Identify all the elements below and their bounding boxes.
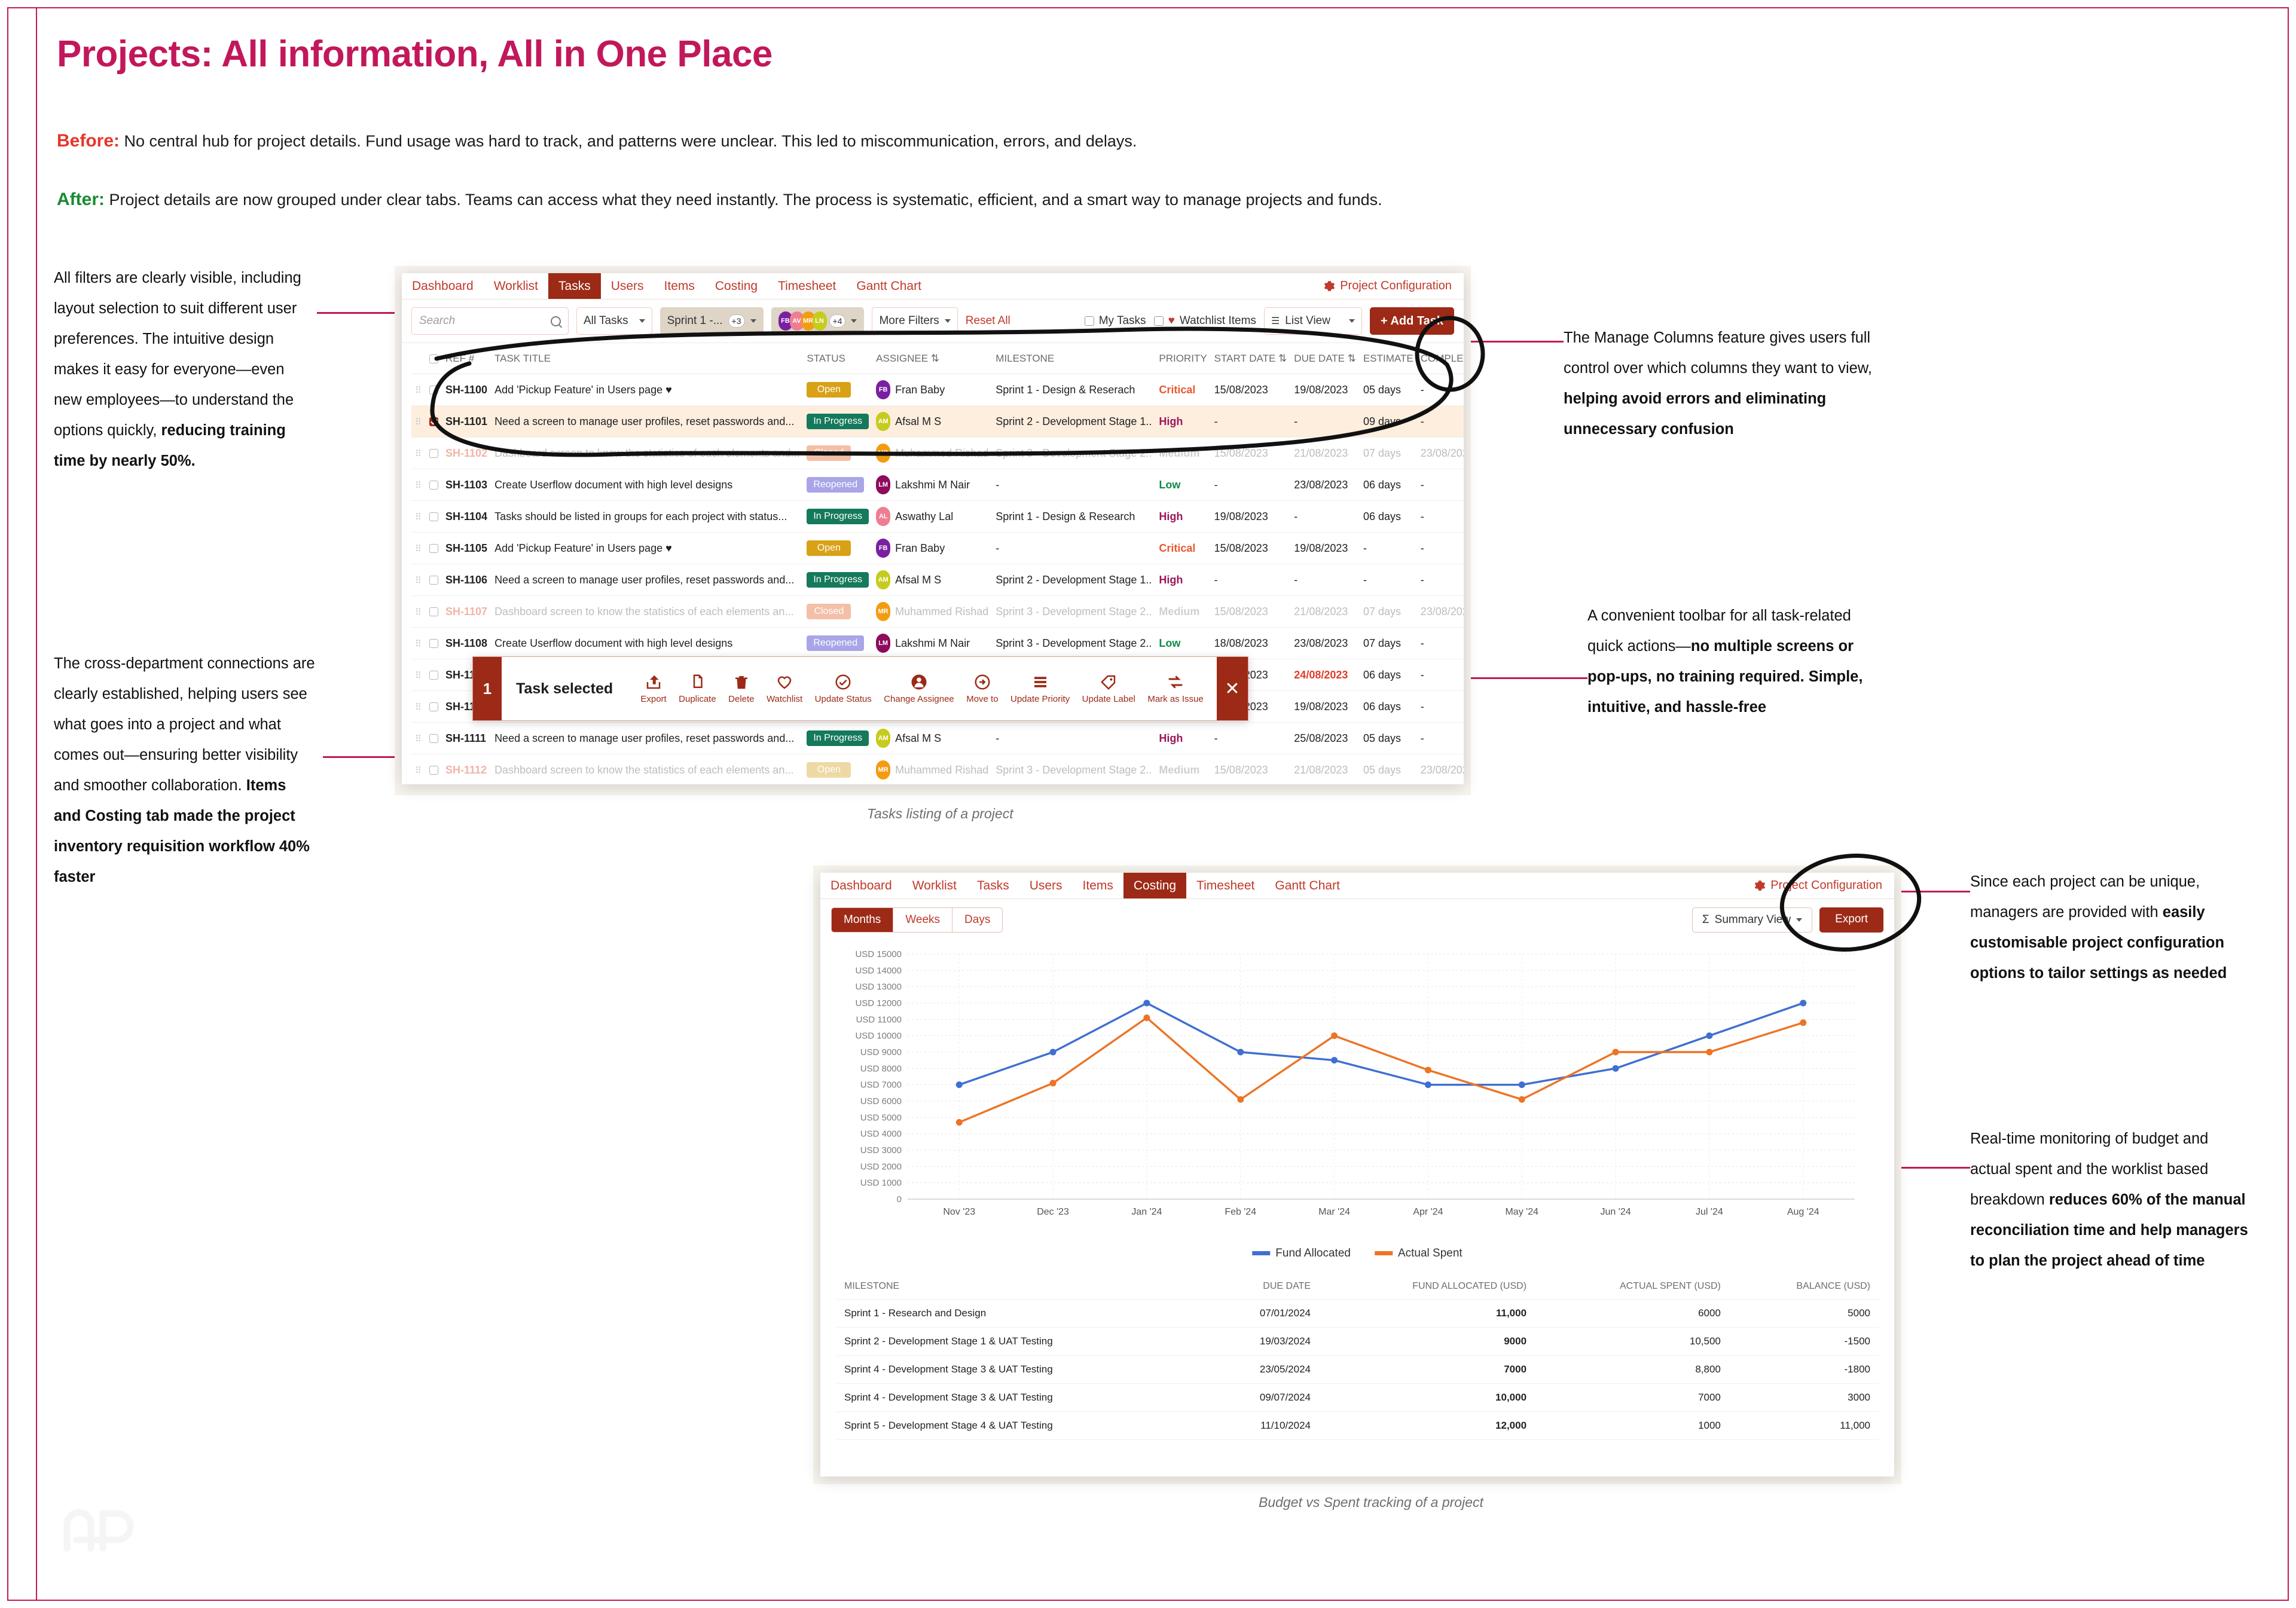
cell-ref[interactable]: SH-1102 (442, 438, 491, 469)
svg-text:USD 11000: USD 11000 (856, 1014, 902, 1025)
action-label: Change Assignee (884, 694, 954, 704)
legend-swatch (1375, 1251, 1393, 1255)
cell-start-date: 15/08/2023 (1211, 754, 1291, 785)
action-label: Update Status (815, 694, 872, 704)
cell-due-date: 23/08/2023 (1290, 628, 1360, 659)
cell-title: Tasks should be listed in groups for eac… (491, 501, 803, 533)
row-checkbox[interactable] (426, 691, 442, 723)
cell-priority: Low (1155, 628, 1210, 659)
duplicate-icon (688, 673, 706, 691)
after-text: Project details are now grouped under cl… (105, 191, 1382, 209)
checkbox-icon (429, 607, 438, 616)
cell-completed-date: - (1417, 533, 1464, 564)
watchlist-items-checkbox[interactable]: ♥ Watchlist Items (1154, 314, 1256, 328)
cell-start-date: - (1211, 406, 1291, 438)
status-badge: In Progress (807, 509, 869, 524)
cell-priority: High (1155, 723, 1210, 754)
cell-ref[interactable]: SH-1106 (442, 564, 491, 596)
close-icon[interactable]: ✕ (1217, 657, 1248, 720)
cell-start-date: - (1211, 723, 1291, 754)
export-icon (645, 673, 662, 691)
action-label: Watchlist (767, 694, 802, 704)
cell-due-date: 19/08/2023 (1290, 374, 1360, 406)
delete-icon (732, 673, 750, 691)
cell-completed-date: 23/08/2023 (1417, 754, 1464, 785)
after-paragraph: After: Project details are now grouped u… (57, 187, 1970, 212)
checkbox-icon (429, 354, 438, 363)
cell-assignee: AMAfsal M S (872, 723, 992, 754)
cell-assignee: FBFran Baby (872, 374, 992, 406)
table-row[interactable]: Sprint 2 - Development Stage 1 & UAT Tes… (836, 1328, 1879, 1356)
watchlist-icon (775, 673, 793, 691)
milestone-table-header-row: MILESTONEDUE DATEFUND ALLOCATED (USD)ACT… (836, 1274, 1879, 1300)
annotation-manage-columns: The Manage Columns feature gives users f… (1564, 323, 1880, 445)
avatar: LN (813, 311, 827, 331)
action-change-assignee-button[interactable]: Change Assignee (884, 673, 954, 704)
row-drag-handle[interactable]: ⠿ (411, 469, 426, 501)
sigma-icon: Σ (1702, 913, 1709, 927)
table-row[interactable]: ⠿SH-1101Need a screen to manage user pro… (411, 406, 1464, 438)
svg-text:USD 9000: USD 9000 (860, 1047, 902, 1057)
nav-tab-timesheet[interactable]: Timesheet (1186, 873, 1265, 898)
action-mark-as-issue-button[interactable]: Mark as Issue (1147, 673, 1203, 704)
nav-tab-users[interactable]: Users (1019, 873, 1073, 898)
cell-milestone: Sprint 3 - Development Stage 2.. (992, 596, 1155, 628)
selection-label: Task selected (502, 657, 627, 720)
cell-fund-allocated: 10,000 (1319, 1384, 1535, 1412)
avatar: AM (876, 570, 890, 589)
nav-tab-costing[interactable]: Costing (1123, 873, 1186, 898)
change-assignee-icon (910, 673, 928, 691)
status-badge: Reopened (807, 477, 864, 493)
annotation-cross-plain: The cross-department connections are cle… (54, 655, 315, 794)
cell-milestone: Sprint 4 - Development Stage 3 & UAT Tes… (836, 1384, 1207, 1412)
row-checkbox[interactable] (426, 564, 442, 596)
status-badge: In Progress (807, 572, 869, 588)
table-row[interactable]: ⠿SH-1102Dashboard screen to know the sta… (411, 438, 1464, 469)
sprint-select-label: Sprint 1 -... (667, 314, 723, 328)
chevron-down-icon (639, 319, 645, 323)
row-drag-handle[interactable]: ⠿ (411, 754, 426, 785)
milestone-column-actual-spent-usd: ACTUAL SPENT (USD) (1535, 1274, 1729, 1300)
project-configuration-label: Project Configuration (1340, 279, 1452, 293)
cell-ref[interactable]: SH-1111 (442, 723, 491, 754)
cell-status: Open (803, 533, 872, 564)
svg-text:Feb '24: Feb '24 (1225, 1207, 1256, 1217)
column-header-due-date[interactable]: DUE DATE ⇅ (1290, 343, 1360, 374)
tasks-table-header-row: REF #TASK TITLESTATUSASSIGNEE ⇅MILESTONE… (411, 343, 1464, 374)
cell-due-date: 23/08/2023 (1290, 469, 1360, 501)
cell-start-date: - (1211, 469, 1291, 501)
row-drag-handle[interactable]: ⠿ (411, 406, 426, 438)
all-tasks-select-label: All Tasks (584, 314, 628, 328)
table-row[interactable]: Sprint 4 - Development Stage 3 & UAT Tes… (836, 1384, 1879, 1412)
cell-balance: -1800 (1729, 1356, 1879, 1384)
all-tasks-select[interactable]: All Tasks (576, 307, 652, 335)
cell-completed-date: - (1417, 691, 1464, 723)
cell-due-date: 09/07/2024 (1207, 1384, 1319, 1412)
annotation-filters-plain: All filters are clearly visible, includi… (54, 270, 301, 439)
svg-text:USD 14000: USD 14000 (855, 965, 902, 976)
svg-text:Apr '24: Apr '24 (1413, 1207, 1443, 1217)
cell-priority: Medium (1155, 438, 1210, 469)
cell-start-date: 18/08/2023 (1211, 628, 1291, 659)
table-row[interactable]: ⠿SH-1108Create Userflow document with hi… (411, 628, 1464, 659)
row-drag-handle[interactable]: ⠿ (411, 533, 426, 564)
cell-ref[interactable]: SH-1108 (442, 628, 491, 659)
row-checkbox[interactable] (426, 754, 442, 785)
column-header-estimate[interactable]: ESTIMATE (1360, 343, 1417, 374)
before-text: No central hub for project details. Fund… (120, 132, 1137, 150)
milestone-column-due-date: DUE DATE (1207, 1274, 1319, 1300)
cell-ref[interactable]: SH-1105 (442, 533, 491, 564)
annotation-filters: All filters are clearly visible, includi… (54, 263, 311, 476)
sprint-more-badge: +3 (728, 314, 745, 328)
cell-milestone: Sprint 1 - Research and Design (836, 1300, 1207, 1328)
cell-actual-spent: 8,800 (1535, 1356, 1729, 1384)
nav-tab-dashboard[interactable]: Dashboard (402, 273, 484, 299)
column-header-assignee[interactable]: ASSIGNEE ⇅ (872, 343, 992, 374)
nav-tab-items[interactable]: Items (1073, 873, 1123, 898)
row-checkbox[interactable] (426, 406, 442, 438)
svg-text:Jun '24: Jun '24 (1601, 1207, 1631, 1217)
add-task-button[interactable]: + Add Task (1370, 307, 1454, 335)
nav-tab-dashboard[interactable]: Dashboard (820, 873, 902, 898)
action-duplicate-button[interactable]: Duplicate (679, 673, 716, 704)
leader-line-columns (1465, 341, 1564, 343)
cell-due-date: 19/03/2024 (1207, 1328, 1319, 1356)
cell-due-date: 23/05/2024 (1207, 1356, 1319, 1384)
cell-completed-date: - (1417, 501, 1464, 533)
nav-tab-tasks[interactable]: Tasks (548, 273, 601, 299)
cell-due-date: - (1290, 406, 1360, 438)
column-header-completed-date[interactable]: COMPLETED DATE ⇅ (1417, 343, 1464, 374)
chart-svg: 0USD 1000USD 2000USD 3000USD 4000USD 500… (836, 948, 1879, 1223)
avatar: MR (876, 444, 890, 463)
cell-estimate: 07 days (1360, 438, 1417, 469)
project-configuration-label: Project Configuration (1770, 879, 1882, 892)
cell-milestone: Sprint 3 - Development Stage 2.. (992, 438, 1155, 469)
status-badge: Open (807, 762, 851, 778)
cell-status: Closed (803, 438, 872, 469)
nav-tab-costing[interactable]: Costing (705, 273, 768, 299)
action-label: Update Priority (1010, 694, 1070, 704)
action-label: Duplicate (679, 694, 716, 704)
cell-due-date: 19/08/2023 (1290, 691, 1360, 723)
page-title: Projects: All information, All in One Pl… (57, 33, 1253, 75)
cell-due-date: 07/01/2024 (1207, 1300, 1319, 1328)
cell-milestone: Sprint 3 - Development Stage 2.. (992, 754, 1155, 785)
leader-line-filters (317, 312, 395, 314)
selection-toolbar: 1 Task selected ExportDuplicateDeleteWat… (472, 656, 1248, 721)
reset-all-button[interactable]: Reset All (966, 314, 1010, 328)
cell-priority: Medium (1155, 754, 1210, 785)
cell-ref[interactable]: SH-1104 (442, 501, 491, 533)
cell-estimate: 07 days (1360, 596, 1417, 628)
svg-text:USD 8000: USD 8000 (860, 1063, 902, 1074)
cell-actual-spent: 6000 (1535, 1300, 1729, 1328)
selection-count: 1 (473, 657, 502, 720)
row-drag-handle[interactable]: ⠿ (411, 691, 426, 723)
action-label: Mark as Issue (1147, 694, 1203, 704)
cell-title: Add 'Pickup Feature' in Users page ♥ (491, 374, 803, 406)
row-checkbox[interactable] (426, 723, 442, 754)
cell-completed-date: 23/08/2023 (1417, 596, 1464, 628)
row-drag-handle[interactable]: ⠿ (411, 659, 426, 691)
cell-completed-date: - (1417, 469, 1464, 501)
summary-view-label: Summary View (1715, 913, 1791, 927)
table-row[interactable]: Sprint 1 - Research and Design07/01/2024… (836, 1300, 1879, 1328)
cell-estimate: 06 days (1360, 691, 1417, 723)
table-row[interactable]: ⠿SH-1112Dashboard screen to know the sta… (411, 754, 1464, 785)
avatar: FB (876, 539, 890, 558)
chevron-down-icon (851, 319, 857, 323)
search-input[interactable]: Search (411, 307, 569, 335)
svg-text:USD 10000: USD 10000 (855, 1031, 902, 1041)
ap-logo (60, 1500, 149, 1554)
avatar: LM (876, 634, 890, 653)
column-header-milestone[interactable]: MILESTONE (992, 343, 1155, 374)
cell-due-date: - (1290, 501, 1360, 533)
nav-tab-worklist[interactable]: Worklist (902, 873, 967, 898)
my-tasks-checkbox[interactable]: My Tasks (1085, 314, 1146, 328)
column-header-status[interactable]: STATUS (803, 343, 872, 374)
export-button[interactable]: Export (1819, 907, 1883, 933)
milestone-column-balance-usd: BALANCE (USD) (1729, 1274, 1879, 1300)
cell-title: Need a screen to manage user profiles, r… (491, 723, 803, 754)
nav-tab-gantt-chart[interactable]: Gantt Chart (1265, 873, 1350, 898)
segment-weeks[interactable]: Weeks (893, 908, 952, 932)
milestone-table: MILESTONEDUE DATEFUND ALLOCATED (USD)ACT… (836, 1274, 1879, 1440)
column-header-ref[interactable]: REF # (442, 343, 491, 374)
table-row[interactable]: ⠿SH-1103Create Userflow document with hi… (411, 469, 1464, 501)
gear-icon (1324, 280, 1335, 292)
cell-ref[interactable]: SH-1107 (442, 596, 491, 628)
annotation-configuration: Since each project can be unique, manage… (1970, 867, 2251, 989)
list-view-select[interactable]: ☰ List View (1264, 307, 1362, 335)
cell-actual-spent: 1000 (1535, 1412, 1729, 1440)
nav-tab-worklist[interactable]: Worklist (484, 273, 548, 299)
cell-ref[interactable]: SH-1101 (442, 406, 491, 438)
row-drag-handle[interactable]: ⠿ (411, 438, 426, 469)
svg-text:USD 15000: USD 15000 (855, 949, 902, 959)
row-checkbox[interactable] (426, 596, 442, 628)
chevron-down-icon (1349, 319, 1355, 323)
table-row[interactable]: ⠿SH-1107Dashboard screen to know the sta… (411, 596, 1464, 628)
row-checkbox[interactable] (426, 501, 442, 533)
legend-item: Fund Allocated (1252, 1247, 1351, 1260)
nav-tab-users[interactable]: Users (601, 273, 654, 299)
cell-priority: High (1155, 564, 1210, 596)
checkbox-icon (1154, 316, 1164, 326)
cell-title: Dashboard screen to know the statistics … (491, 438, 803, 469)
svg-text:Nov '23: Nov '23 (943, 1207, 975, 1217)
search-icon (551, 316, 561, 326)
cell-milestone: - (992, 469, 1155, 501)
status-badge: Open (807, 382, 851, 398)
cell-due-date: 19/08/2023 (1290, 533, 1360, 564)
cell-milestone: - (992, 723, 1155, 754)
cell-status: Reopened (803, 469, 872, 501)
column-header-start-date[interactable]: START DATE ⇅ (1211, 343, 1291, 374)
cell-completed-date: - (1417, 628, 1464, 659)
avatar: AM (876, 729, 890, 748)
annotation-toolbar: A convenient toolbar for all task-relate… (1587, 601, 1886, 723)
cell-completed-date: - (1417, 564, 1464, 596)
page-border-inner-rule (36, 7, 37, 1601)
cell-milestone: Sprint 4 - Development Stage 3 & UAT Tes… (836, 1356, 1207, 1384)
row-drag-handle[interactable]: ⠿ (411, 564, 426, 596)
heart-icon: ♥ (1168, 314, 1175, 328)
status-badge: In Progress (807, 730, 869, 746)
cell-title: Dashboard screen to know the statistics … (491, 754, 803, 785)
chart-legend: Fund AllocatedActual Spent (1252, 1247, 1462, 1260)
table-row[interactable]: ⠿SH-1104Tasks should be listed in groups… (411, 501, 1464, 533)
cell-actual-spent: 7000 (1535, 1384, 1729, 1412)
cell-priority: Critical (1155, 533, 1210, 564)
leader-line-config (1892, 891, 1970, 892)
cell-priority: Low (1155, 469, 1210, 501)
row-checkbox[interactable] (426, 438, 442, 469)
cell-start-date: 15/08/2023 (1211, 596, 1291, 628)
nav-tab-items[interactable]: Items (654, 273, 705, 299)
project-configuration-button[interactable]: Project Configuration (1324, 273, 1464, 299)
row-drag-handle[interactable]: ⠿ (411, 723, 426, 754)
checkbox-icon (429, 512, 438, 521)
cell-due-date: 25/08/2023 (1290, 723, 1360, 754)
segment-months[interactable]: Months (832, 908, 893, 932)
cell-milestone: Sprint 5 - Development Stage 4 & UAT Tes… (836, 1412, 1207, 1440)
cell-due-date: 21/08/2023 (1290, 754, 1360, 785)
row-checkbox[interactable] (426, 533, 442, 564)
table-row[interactable]: Sprint 5 - Development Stage 4 & UAT Tes… (836, 1412, 1879, 1440)
action-move-to-button[interactable]: Move to (966, 673, 998, 704)
cell-milestone: Sprint 2 - Development Stage 1.. (992, 406, 1155, 438)
cell-estimate: 05 days (1360, 374, 1417, 406)
avatar: AL (876, 507, 890, 526)
checkbox-icon (1085, 316, 1094, 326)
cell-due-date: 21/08/2023 (1290, 596, 1360, 628)
action-delete-button[interactable]: Delete (728, 673, 754, 704)
row-checkbox[interactable] (426, 659, 442, 691)
row-drag-handle[interactable]: ⠿ (411, 596, 426, 628)
select-all-header[interactable] (426, 343, 442, 374)
summary-view-select[interactable]: Σ Summary View (1692, 907, 1812, 933)
action-label: Move to (966, 694, 998, 704)
action-export-button[interactable]: Export (640, 673, 666, 704)
more-filters-button[interactable]: More Filters (872, 307, 957, 335)
action-update-status-button[interactable]: Update Status (815, 673, 872, 704)
table-row[interactable]: ⠿SH-1105Add 'Pickup Feature' in Users pa… (411, 533, 1464, 564)
table-row[interactable]: ⠿SH-1106Need a screen to manage user pro… (411, 564, 1464, 596)
svg-text:Dec '23: Dec '23 (1037, 1207, 1069, 1217)
action-update-label-button[interactable]: Update Label (1082, 673, 1135, 704)
row-checkbox[interactable] (426, 469, 442, 501)
cell-ref[interactable]: SH-1112 (442, 754, 491, 785)
cell-fund-allocated: 9000 (1319, 1328, 1535, 1356)
cell-status: In Progress (803, 723, 872, 754)
more-filters-label: More Filters (879, 314, 939, 328)
table-row[interactable]: ⠿SH-1111Need a screen to manage user pro… (411, 723, 1464, 754)
cell-assignee: AMAfsal M S (872, 406, 992, 438)
cell-milestone: - (992, 533, 1155, 564)
row-drag-handle[interactable]: ⠿ (411, 374, 426, 406)
cell-estimate: 09 days (1360, 406, 1417, 438)
assignee-avatar-group: FBAVMRLN (778, 311, 824, 331)
tasks-table-body: ⠿SH-1100Add 'Pickup Feature' in Users pa… (411, 374, 1464, 785)
cell-fund-allocated: 7000 (1319, 1356, 1535, 1384)
cell-assignee: LMLakshmi M Nair (872, 469, 992, 501)
avatar: MR (876, 602, 890, 621)
list-view-label: List View (1285, 314, 1330, 328)
chevron-down-icon (1796, 918, 1802, 922)
cell-assignee: MRMuhammed Rishad (872, 596, 992, 628)
action-label: Delete (728, 694, 754, 704)
update-status-icon (834, 673, 852, 691)
cell-assignee: ALAswathy Lal (872, 501, 992, 533)
move-to-icon (973, 673, 991, 691)
cell-title: Create Userflow document with high level… (491, 469, 803, 501)
cell-status: Open (803, 754, 872, 785)
svg-text:USD 1000: USD 1000 (860, 1178, 902, 1188)
action-watchlist-button[interactable]: Watchlist (767, 673, 802, 704)
cell-status: Open (803, 374, 872, 406)
cell-due-date: 24/08/2023 (1290, 659, 1360, 691)
cell-ref[interactable]: SH-1103 (442, 469, 491, 501)
svg-text:Jan '24: Jan '24 (1131, 1207, 1162, 1217)
costing-segment-bar: MonthsWeeksDays Σ Summary View Export (820, 899, 1894, 941)
table-row[interactable]: ⠿SH-1100Add 'Pickup Feature' in Users pa… (411, 374, 1464, 406)
segment-days[interactable]: Days (952, 908, 1002, 932)
my-tasks-label: My Tasks (1099, 314, 1146, 328)
cell-start-date: 15/08/2023 (1211, 438, 1291, 469)
tasks-screenshot-caption: Tasks listing of a project (867, 806, 1013, 822)
cell-ref[interactable]: SH-1100 (442, 374, 491, 406)
period-segmented-control[interactable]: MonthsWeeksDays (831, 907, 1003, 933)
annotation-realtime: Real-time monitoring of budget and actua… (1970, 1124, 2251, 1276)
checkbox-icon (429, 576, 438, 585)
row-checkbox[interactable] (426, 628, 442, 659)
nav-tab-tasks[interactable]: Tasks (967, 873, 1019, 898)
row-drag-handle[interactable]: ⠿ (411, 501, 426, 533)
sprint-select[interactable]: Sprint 1 -... +3 (660, 307, 764, 335)
table-row[interactable]: Sprint 4 - Development Stage 3 & UAT Tes… (836, 1356, 1879, 1384)
action-update-priority-button[interactable]: Update Priority (1010, 673, 1070, 704)
svg-text:May '24: May '24 (1505, 1207, 1538, 1217)
nav-tab-gantt-chart[interactable]: Gantt Chart (846, 273, 932, 299)
row-drag-handle[interactable]: ⠿ (411, 628, 426, 659)
svg-text:USD 3000: USD 3000 (860, 1145, 902, 1155)
cell-start-date: 15/08/2023 (1211, 374, 1291, 406)
cell-milestone: Sprint 1 - Design & Reserach (992, 374, 1155, 406)
tasks-app-nav: DashboardWorklistTasksUsersItemsCostingT… (402, 273, 1464, 299)
cell-completed-date: - (1417, 723, 1464, 754)
project-configuration-button[interactable]: Project Configuration (1754, 873, 1894, 898)
checkbox-icon (429, 417, 438, 426)
nav-tab-timesheet[interactable]: Timesheet (768, 273, 846, 299)
assignee-select[interactable]: FBAVMRLN +4 (771, 307, 865, 335)
costing-screenshot: DashboardWorklistTasksUsersItemsCostingT… (820, 873, 1894, 1476)
cell-estimate: 05 days (1360, 723, 1417, 754)
budget-vs-spent-chart: 0USD 1000USD 2000USD 3000USD 4000USD 500… (836, 948, 1879, 1274)
row-checkbox[interactable] (426, 374, 442, 406)
annotation-columns-bold: helping avoid errors and eliminating unn… (1564, 390, 1826, 438)
before-label: Before: (57, 131, 120, 151)
cell-balance: 3000 (1729, 1384, 1879, 1412)
column-header-priority[interactable]: PRIORITY (1155, 343, 1210, 374)
column-header-task-title[interactable]: TASK TITLE (491, 343, 803, 374)
cell-due-date: 21/08/2023 (1290, 438, 1360, 469)
